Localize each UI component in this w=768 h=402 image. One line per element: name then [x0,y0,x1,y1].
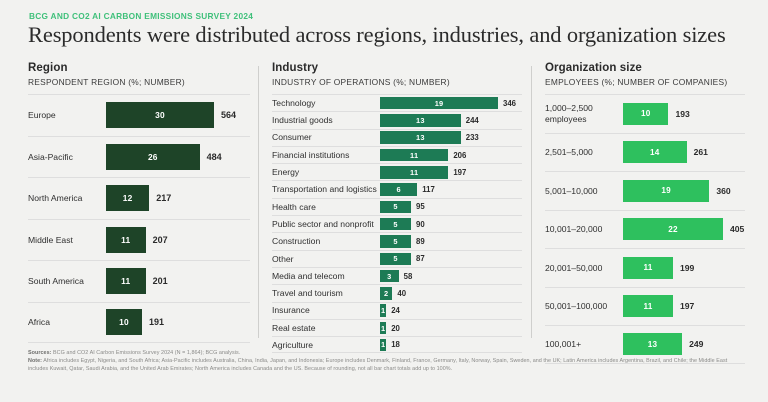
bar: 22 [623,218,723,240]
table-row: Media and telecom358 [272,267,522,284]
table-row: Travel and tourism240 [272,284,522,301]
bar-area: 595 [380,199,522,215]
bar-area: 587 [380,251,522,267]
column-subtitle-industry: INDUSTRY OF OPERATIONS (%; NUMBER) [272,77,522,88]
bar: 5 [380,201,411,214]
bar-row-label: Construction [272,236,380,247]
bar-count-label: 197 [453,168,466,177]
bar-area: 124 [380,303,522,319]
bar-row-label: Europe [28,110,106,121]
bar-count-label: 206 [453,151,466,160]
footnotes: Sources: BCG and CO2 AI Carbon Emissions… [28,349,746,373]
bar-count-label: 193 [675,109,689,119]
bar-row-label: 100,001+ [545,339,623,350]
bar-row-label: 5,001–10,000 [545,186,623,197]
bar: 5 [380,218,411,231]
table-row: Construction589 [272,232,522,249]
bar-count-label: 207 [153,235,168,245]
bar: 13 [380,131,461,144]
bar-percent-label: 11 [410,151,418,160]
footnote-note-label: Note: [28,358,42,364]
bar-area: 11206 [380,147,522,163]
bar-row-label: Energy [272,167,380,178]
table-row: Other587 [272,250,522,267]
bar-row-label: Public sector and nonprofit [272,219,380,230]
table-row: Middle East11207 [28,219,250,261]
bar-count-label: 199 [680,263,694,273]
bar-row-label: Insurance [272,305,380,316]
chart-column-organization-size: Organization size EMPLOYEES (%; NUMBER O… [545,62,745,344]
bar-percent-label: 12 [123,193,133,203]
bar-percent-label: 11 [121,276,130,286]
bar-count-label: 244 [466,116,479,125]
bar-row-label: Health care [272,202,380,213]
bar-row-label: 2,501–5,000 [545,147,623,158]
bar-percent-label: 30 [155,110,165,120]
table-row: 5,001–10,00019360 [545,171,745,210]
bar-count-label: 87 [416,254,425,263]
bar-area: 26484 [106,137,250,178]
bar: 11 [623,257,673,279]
bar-percent-label: 1 [381,324,385,333]
page-title: Respondents were distributed across regi… [28,22,726,48]
bar-area: 10191 [106,303,250,343]
bar-area: 22405 [623,211,745,249]
column-title-organization-size: Organization size [545,62,745,75]
bar-percent-label: 3 [387,272,391,281]
table-row: Europe30564 [28,94,250,136]
bar-row-label: 1,000–2,500employees [545,103,623,124]
bar-row-label: Other [272,254,380,265]
bar-area: 358 [380,268,522,284]
bar-count-label: 197 [680,301,694,311]
bar-area: 11197 [623,288,745,326]
bar-percent-label: 5 [393,254,397,263]
bar-area: 120 [380,320,522,336]
bar-percent-label: 5 [393,237,397,246]
bar: 5 [380,253,411,266]
bar-percent-label: 26 [148,152,158,162]
bar-area: 11199 [623,249,745,287]
bar: 5 [380,235,411,248]
bar-area: 14261 [623,134,745,172]
bar-row-label: 10,001–20,000 [545,224,623,235]
bar: 12 [106,185,149,211]
bar: 1 [380,304,386,317]
bar-percent-label: 13 [416,116,425,125]
bar-area: 11197 [380,164,522,180]
footnote-sources-label: Sources: [28,350,51,356]
table-row: Africa10191 [28,302,250,344]
bar-percent-label: 6 [396,185,400,194]
bar-percent-label: 13 [648,340,658,349]
bar-count-label: 484 [207,152,222,162]
table-row: Industrial goods13244 [272,111,522,128]
chart-columns: Region RESPONDENT REGION (%; NUMBER) Eur… [0,62,768,344]
bar-area: 590 [380,216,522,232]
bar-area: 589 [380,233,522,249]
bar-row-label: Middle East [28,235,106,246]
table-row: Transportation and logistics6117 [272,180,522,197]
bar-count-label: 405 [730,224,744,234]
bar: 6 [380,183,417,196]
bar-percent-label: 19 [661,186,671,195]
table-row: Financial institutions11206 [272,146,522,163]
bar-percent-label: 10 [641,109,651,118]
bar-area: 19360 [623,172,745,210]
bar-count-label: 191 [149,317,164,327]
bar-area: 30564 [106,95,250,136]
bar-row-label: 20,001–50,000 [545,263,623,274]
bar-count-label: 360 [716,186,730,196]
bar-count-label: 346 [503,99,516,108]
bar-percent-label: 11 [643,302,652,311]
bar-percent-label: 14 [650,148,660,157]
table-row: Energy11197 [272,163,522,180]
bar-rows-region: Europe30564Asia-Pacific26484North Americ… [28,94,250,343]
bar-count-label: 117 [422,185,435,194]
bar-area: 13233 [380,130,522,146]
table-row: 20,001–50,00011199 [545,248,745,287]
bar-percent-label: 11 [121,235,130,245]
chart-column-region: Region RESPONDENT REGION (%; NUMBER) Eur… [28,62,250,344]
bar-row-label: Real estate [272,323,380,334]
bar-row-label: Industrial goods [272,115,380,126]
bar-row-label: Technology [272,98,380,109]
table-row: South America11201 [28,260,250,302]
bar: 11 [380,166,448,179]
column-divider-1 [258,66,259,338]
column-title-industry: Industry [272,62,522,75]
bar: 1 [380,322,386,335]
eyebrow-label: BCG AND CO2 AI CARBON EMISSIONS SURVEY 2… [29,11,253,21]
column-subtitle-region: RESPONDENT REGION (%; NUMBER) [28,77,250,88]
bar-percent-label: 1 [381,306,385,315]
bar-count-label: 58 [404,272,413,281]
bar-row-label: North America [28,193,106,204]
column-subtitle-organization-size: EMPLOYEES (%; NUMBER OF COMPANIES) [545,77,745,88]
bar: 14 [623,141,687,163]
bar-percent-label: 11 [410,168,418,177]
table-row: 2,501–5,00014261 [545,133,745,172]
bar-count-label: 201 [153,276,168,286]
bar: 10 [623,103,668,125]
footnote-note-text: Africa includes Egypt, Nigeria, and Sout… [28,358,727,372]
bar: 11 [623,295,673,317]
bar-count-label: 24 [391,306,400,315]
bar-area: 11201 [106,261,250,302]
bar-row-label: Media and telecom [272,271,380,282]
table-row: North America12217 [28,177,250,219]
bar-area: 10193 [623,95,745,133]
infographic-page: BCG AND CO2 AI CARBON EMISSIONS SURVEY 2… [0,0,768,402]
footnote-sources: Sources: BCG and CO2 AI Carbon Emissions… [28,349,746,357]
table-row: Technology19346 [272,94,522,111]
bar-percent-label: 1 [381,340,385,349]
bar-percent-label: 5 [393,220,397,229]
bar-row-label: Financial institutions [272,150,380,161]
bar-count-label: 90 [416,220,425,229]
bar-area: 12217 [106,178,250,219]
footnote-sources-text: BCG and CO2 AI Carbon Emissions Survey 2… [51,350,240,356]
bar: 30 [106,102,214,128]
bar: 19 [380,97,498,110]
bar-rows-industry: Technology19346Industrial goods13244Cons… [272,94,522,353]
bar-percent-label: 10 [119,317,129,327]
column-divider-2 [531,66,532,338]
bar-percent-label: 19 [435,99,444,108]
bar-count-label: 564 [221,110,236,120]
bar: 19 [623,180,709,202]
bar-count-label: 40 [397,289,406,298]
table-row: Real estate120 [272,319,522,336]
table-row: 50,001–100,00011197 [545,287,745,326]
bar: 11 [106,227,146,253]
footnote-note: Note: Africa includes Egypt, Nigeria, an… [28,357,746,373]
bar-count-label: 217 [156,193,171,203]
bar-percent-label: 22 [668,225,678,234]
bar-row-label: Consumer [272,132,380,143]
bar: 11 [380,149,448,162]
column-title-region: Region [28,62,250,75]
bar: 2 [380,287,392,300]
bar: 13 [380,114,461,127]
bar: 11 [106,268,146,294]
table-row: Health care595 [272,198,522,215]
table-row: 10,001–20,00022405 [545,210,745,249]
table-row: Public sector and nonprofit590 [272,215,522,232]
bar-percent-label: 13 [416,133,425,142]
bar-row-label: Travel and tourism [272,288,380,299]
bar-row-label: Africa [28,317,106,328]
bar-count-label: 233 [466,133,479,142]
table-row: 1,000–2,500employees10193 [545,94,745,133]
bar: 10 [106,309,142,335]
bar-area: 6117 [380,181,522,197]
bar-row-label: Asia-Pacific [28,152,106,163]
bar-area: 240 [380,285,522,301]
bar-count-label: 249 [689,339,703,349]
bar: 3 [380,270,399,283]
bar-count-label: 261 [694,147,708,157]
bar-percent-label: 2 [384,289,388,298]
chart-column-industry: Industry INDUSTRY OF OPERATIONS (%; NUMB… [272,62,522,344]
bar-count-label: 89 [416,237,425,246]
bar-rows-organization-size: 1,000–2,500employees101932,501–5,0001426… [545,94,745,364]
bar-row-label: 50,001–100,000 [545,301,623,312]
bar-area: 13244 [380,112,522,128]
bar-row-label: Transportation and logistics [272,184,380,195]
bar-count-label: 20 [391,324,400,333]
bar-percent-label: 11 [643,263,652,272]
bar-count-label: 95 [416,202,425,211]
bar-percent-label: 5 [393,202,397,211]
bar-area: 11207 [106,220,250,261]
table-row: Insurance124 [272,302,522,319]
bar-row-label: South America [28,276,106,287]
bar-area: 19346 [380,95,522,111]
bar: 26 [106,144,200,170]
table-row: Asia-Pacific26484 [28,136,250,178]
table-row: Consumer13233 [272,129,522,146]
bar-count-label: 18 [391,340,400,349]
